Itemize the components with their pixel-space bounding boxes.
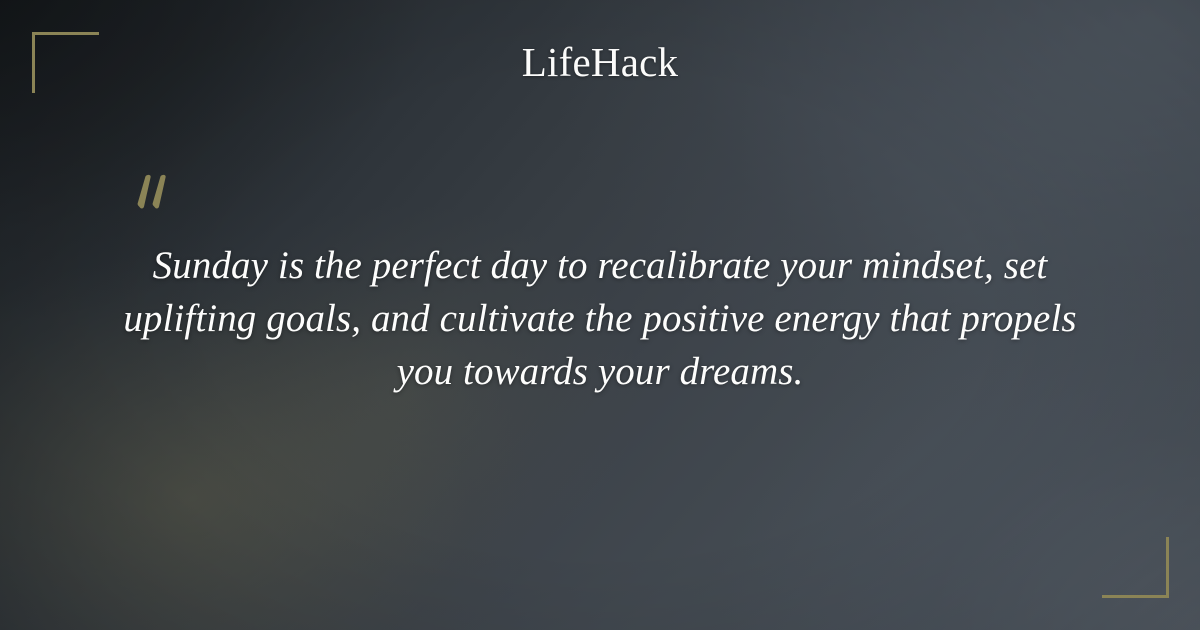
quotation-mark-icon <box>133 173 179 215</box>
bracket-vertical-rule <box>1166 537 1169 598</box>
quote-card: LifeHack Sunday is the perfect day to re… <box>0 0 1200 630</box>
bracket-horizontal-rule <box>32 32 99 35</box>
quote-text-block: Sunday is the perfect day to recalibrate… <box>100 239 1100 398</box>
bracket-horizontal-rule <box>1102 595 1169 598</box>
quote-text: Sunday is the perfect day to recalibrate… <box>100 239 1100 398</box>
corner-bracket-bottom-right-icon <box>1102 537 1169 598</box>
brand-logo: LifeHack <box>0 38 1200 86</box>
